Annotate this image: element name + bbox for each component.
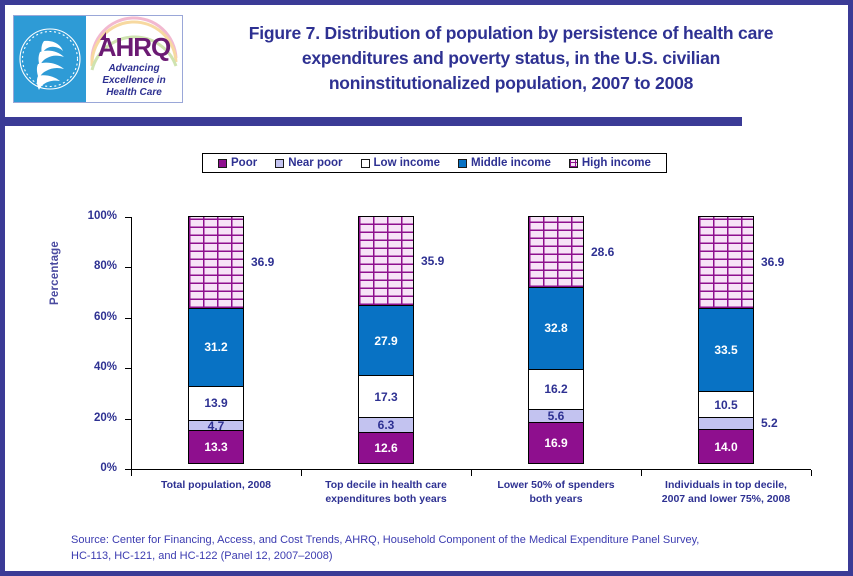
x-axis-category-label: Individuals in top decile,2007 and lower… <box>641 478 811 506</box>
bar-value-label: 36.9 <box>251 256 274 268</box>
y-tick-mark <box>125 217 131 218</box>
bar-segment-low-income[interactable]: 16.2 <box>528 369 584 410</box>
y-axis-title: Percentage <box>49 241 61 305</box>
bar-segment-high-income[interactable]: 35.9 <box>358 216 414 306</box>
bar-stack[interactable]: 36.931.213.94.713.3 <box>188 217 244 469</box>
bar-segment-high-income[interactable]: 28.6 <box>528 216 584 288</box>
y-axis-line <box>131 217 132 470</box>
bar-segment-high-income[interactable]: 36.9 <box>188 216 244 309</box>
x-axis-category-label-line: Lower 50% of spenders <box>471 478 641 492</box>
bar-segment-poor[interactable]: 12.6 <box>358 432 414 464</box>
stacked-bar-chart: Percentage 0%20%40%60%80%100% 36.931.213… <box>5 5 848 571</box>
y-tick-label: 100% <box>73 210 117 222</box>
x-tick-mark <box>641 470 642 476</box>
y-tick-mark <box>125 318 131 319</box>
y-tick-label: 0% <box>73 462 117 474</box>
bar-segment-middle-income[interactable]: 33.5 <box>698 308 754 392</box>
bar-stack[interactable]: 36.933.510.55.214.0 <box>698 217 754 469</box>
bar-value-label: 14.0 <box>714 441 737 453</box>
source-note: Source: Center for Financing, Access, an… <box>71 532 831 564</box>
bar-value-label: 10.5 <box>714 399 737 411</box>
bar-segment-middle-income[interactable]: 32.8 <box>528 287 584 370</box>
x-axis-category-label-line: both years <box>471 492 641 506</box>
bar-segment-middle-income[interactable]: 27.9 <box>358 305 414 375</box>
source-line-1: Source: Center for Financing, Access, an… <box>71 532 831 548</box>
bar-value-label: 17.3 <box>374 391 397 403</box>
y-tick-label: 40% <box>73 361 117 373</box>
y-tick-mark <box>125 368 131 369</box>
x-axis-category-label: Top decile in health careexpenditures bo… <box>301 478 471 506</box>
bar-value-label: 5.6 <box>548 410 565 422</box>
bar-value-label: 6.3 <box>378 419 395 431</box>
bar-stack[interactable]: 35.927.917.36.312.6 <box>358 217 414 469</box>
x-tick-mark <box>131 470 132 476</box>
bar-value-label: 33.5 <box>714 344 737 356</box>
x-axis-category-label-line: Top decile in health care <box>301 478 471 492</box>
bar-segment-poor[interactable]: 14.0 <box>698 429 754 464</box>
x-tick-mark <box>811 470 812 476</box>
x-tick-mark <box>301 470 302 476</box>
x-axis-category-label-line: expenditures both years <box>301 492 471 506</box>
bar-segment-low-income[interactable]: 13.9 <box>188 386 244 421</box>
bar-value-label: 13.9 <box>204 397 227 409</box>
bar-value-label: 32.8 <box>544 322 567 334</box>
x-tick-mark <box>471 470 472 476</box>
bar-segment-low-income[interactable]: 10.5 <box>698 391 754 417</box>
bar-segment-poor[interactable]: 13.3 <box>188 430 244 464</box>
bar-segment-poor[interactable]: 16.9 <box>528 422 584 465</box>
x-axis-category-label-line: Total population, 2008 <box>131 478 301 492</box>
bar-value-label: 16.9 <box>544 437 567 449</box>
bar-stack[interactable]: 28.632.816.25.616.9 <box>528 217 584 469</box>
x-axis-category-label-line: 2007 and lower 75%, 2008 <box>641 492 811 506</box>
y-tick-label: 80% <box>73 260 117 272</box>
x-axis-category-label: Lower 50% of spendersboth years <box>471 478 641 506</box>
x-axis-category-label: Total population, 2008 <box>131 478 301 492</box>
bar-value-label: 35.9 <box>421 255 444 267</box>
bar-value-label: 27.9 <box>374 335 397 347</box>
x-axis-category-label-line: Individuals in top decile, <box>641 478 811 492</box>
bar-value-label: 12.6 <box>374 442 397 454</box>
bar-segment-middle-income[interactable]: 31.2 <box>188 308 244 387</box>
figure-page: AHRQ Advancing Excellence in Health Care… <box>0 0 853 576</box>
bar-value-label: 36.9 <box>761 256 784 268</box>
bar-segment-low-income[interactable]: 17.3 <box>358 375 414 419</box>
bar-value-label: 28.6 <box>591 246 614 258</box>
bar-value-label: 5.2 <box>761 417 778 429</box>
bar-segment-high-income[interactable]: 36.9 <box>698 216 754 309</box>
y-tick-mark <box>125 419 131 420</box>
bar-value-label: 31.2 <box>204 341 227 353</box>
source-line-2: HC-113, HC-121, and HC-122 (Panel 12, 20… <box>71 548 831 564</box>
bar-value-label: 16.2 <box>544 383 567 395</box>
y-tick-label: 60% <box>73 311 117 323</box>
bar-segment-near-poor[interactable]: 6.3 <box>358 417 414 433</box>
bar-segment-near-poor[interactable]: 5.6 <box>528 409 584 423</box>
y-tick-mark <box>125 267 131 268</box>
bar-value-label: 13.3 <box>204 441 227 453</box>
y-tick-label: 20% <box>73 412 117 424</box>
